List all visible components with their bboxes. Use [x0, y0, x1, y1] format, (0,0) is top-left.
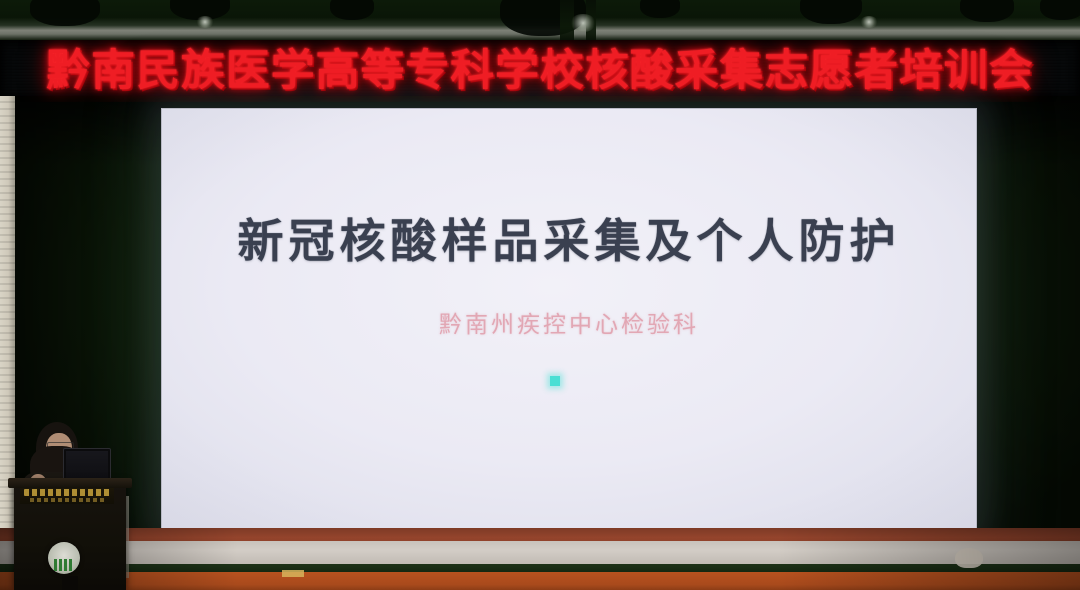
projection-screen-surface: 新冠核酸样品采集及个人防护 黔南州疾控中心检验科 — [162, 109, 976, 531]
floor-object — [282, 570, 304, 577]
ceiling-fixture — [640, 0, 680, 18]
auditorium-stage-scene: 黔南民族医学高等专科学校核酸采集志愿者培训会 新冠核酸样品采集及个人防护 黔南州… — [0, 0, 1080, 590]
led-banner: 黔南民族医学高等专科学校核酸采集志愿者培训会 — [0, 40, 1080, 102]
ceiling-fixture — [1040, 0, 1080, 20]
speaker-and-podium — [0, 400, 200, 590]
ceiling-fixture — [30, 0, 100, 26]
school-crest-icon — [48, 542, 80, 574]
projection-screen: 新冠核酸样品采集及个人防护 黔南州疾控中心检验科 — [162, 109, 976, 531]
lectern-nameplate-line — [24, 489, 110, 496]
ceiling-fixture — [800, 0, 862, 24]
ceiling-lamp — [570, 14, 596, 32]
slide-bullet-marker — [550, 376, 560, 386]
slide-subtitle: 黔南州疾控中心检验科 — [162, 305, 976, 339]
lectern-nameplate — [20, 488, 114, 504]
lectern-nameplate-subline — [30, 498, 104, 502]
ceiling-lamp — [860, 16, 878, 28]
led-banner-text: 黔南民族医学高等专科学校核酸采集志愿者培训会 — [46, 50, 1033, 93]
slide-title: 新冠核酸样品采集及个人防护 — [162, 205, 976, 271]
lectern-base — [62, 576, 78, 590]
lectern-top-surface — [8, 478, 132, 488]
school-crest-mark — [54, 559, 74, 571]
ceiling-fixture — [330, 0, 374, 20]
ceiling-lamp — [196, 16, 214, 28]
floor-object — [955, 548, 983, 568]
ceiling-fixture — [960, 0, 1014, 22]
